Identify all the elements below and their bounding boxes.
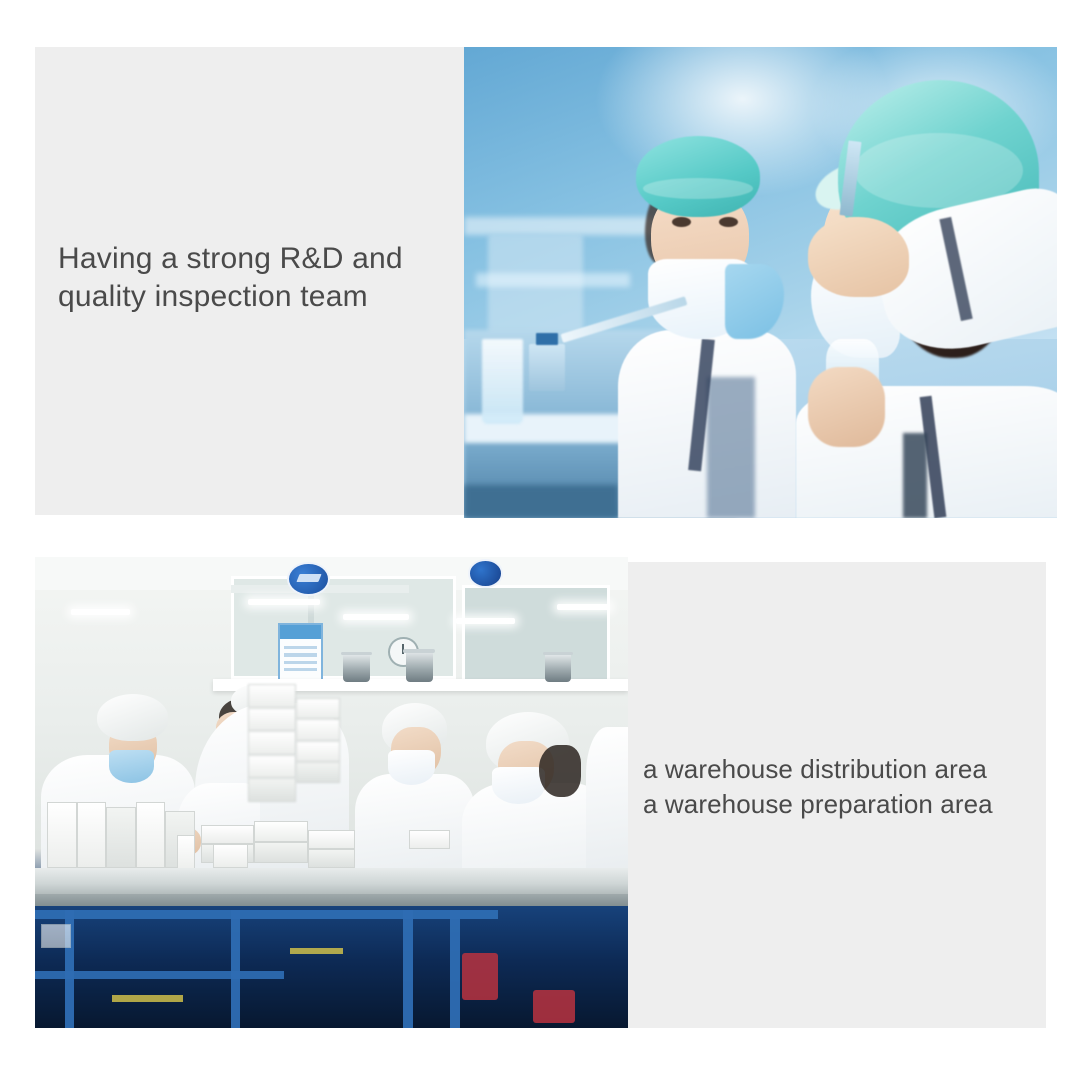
table-leg-2 xyxy=(231,910,240,1028)
carton-stack-item xyxy=(296,719,340,740)
worker-a-face-mask xyxy=(109,750,153,783)
worker-d-hair xyxy=(539,745,581,797)
steel-container-2 xyxy=(406,651,433,682)
top-caption-line-1: Having a strong R&D and xyxy=(58,240,448,278)
steel-container-1 xyxy=(343,654,370,682)
notice-line-1 xyxy=(284,646,316,649)
ceiling-light-5 xyxy=(557,604,610,610)
table-frame-rail-upper xyxy=(35,910,498,918)
worker-d-face-mask xyxy=(492,767,545,805)
technician-one-eye-left xyxy=(672,217,691,227)
carton-stack-item xyxy=(248,684,295,708)
table-leg-4 xyxy=(450,910,459,1028)
notice-line-4 xyxy=(284,668,316,671)
ceiling-light-2 xyxy=(248,599,319,605)
carton-stack-item xyxy=(248,778,295,802)
worker-e-labcoat xyxy=(586,727,628,887)
carton-stack-item xyxy=(296,741,340,762)
carton-stack-item xyxy=(296,698,340,719)
red-item-floor xyxy=(533,990,575,1023)
blue-circular-sign-icon xyxy=(287,562,330,597)
top-caption-text: Having a strong R&D and quality inspecti… xyxy=(58,240,448,317)
carton-stack-item xyxy=(296,762,340,783)
carton-stack-item xyxy=(248,755,295,779)
carton-flat xyxy=(409,830,451,849)
lab-stand-rail xyxy=(903,433,927,518)
lab-shelf-upper xyxy=(464,217,654,236)
carton-upright xyxy=(47,802,77,868)
notice-line-2 xyxy=(284,653,316,656)
steel-container-3 xyxy=(545,654,571,682)
carton-stack-item xyxy=(248,731,295,755)
cleanroom-window-right xyxy=(462,585,610,689)
carton-flat xyxy=(254,842,307,863)
carton-upright xyxy=(106,807,136,868)
carton-flat xyxy=(201,825,254,844)
bench-shadow xyxy=(464,485,618,518)
stainless-steel-table-top xyxy=(35,868,628,896)
lab-shelf-lower xyxy=(476,273,630,287)
floor-marking-yellow xyxy=(290,948,343,954)
table-leg-3 xyxy=(403,910,414,1028)
carton-stack-item xyxy=(248,708,295,732)
carton-flat xyxy=(308,849,355,868)
notice-header-bar xyxy=(280,625,320,639)
floor-marking-yellow xyxy=(112,995,183,1002)
worker-a-hairnet xyxy=(97,694,168,741)
bottom-caption-line-2: a warehouse preparation area xyxy=(643,787,1043,822)
carton-bottle-pack xyxy=(213,844,249,868)
technician-one-inner-garment xyxy=(707,377,754,518)
warehouse-packing-photo xyxy=(35,557,628,1028)
blue-circular-sign-secondary-icon xyxy=(468,559,503,587)
bottom-caption-text: a warehouse distribution area a warehous… xyxy=(643,752,1043,821)
gloved-hand-upper xyxy=(808,217,909,297)
bottom-caption-line-1: a warehouse distribution area xyxy=(643,752,1043,787)
top-caption-line-2: quality inspection team xyxy=(58,278,448,316)
gloved-hand-lower xyxy=(808,367,885,447)
ceiling-light-1 xyxy=(71,609,130,615)
technician-one-eye-right xyxy=(719,217,738,227)
notice-line-3 xyxy=(284,661,316,664)
reagent-bottle xyxy=(529,344,565,391)
carton-under-table xyxy=(41,924,71,948)
carton-flat xyxy=(254,821,307,842)
lab-inspection-photo xyxy=(464,47,1057,518)
carton-flat xyxy=(308,830,355,849)
red-item-under-table xyxy=(462,953,498,1000)
ceiling-light-4 xyxy=(456,618,515,624)
carton-upright xyxy=(77,802,107,868)
technician-one-hairnet xyxy=(636,136,761,216)
ceiling-light-3 xyxy=(343,614,408,620)
slide-canvas: Having a strong R&D and quality inspecti… xyxy=(0,0,1080,1080)
beaker-on-bench xyxy=(482,339,524,424)
carton-upright xyxy=(136,802,166,868)
